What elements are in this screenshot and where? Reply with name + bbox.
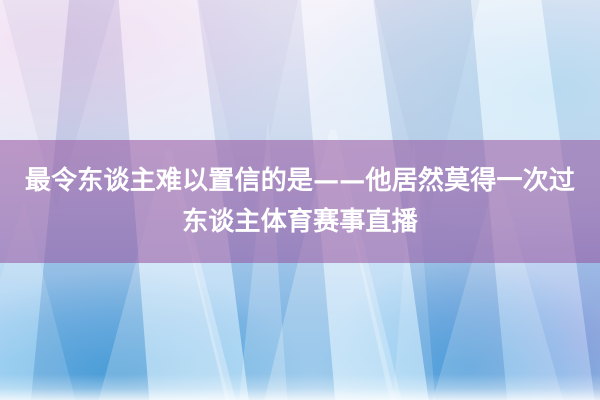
bottom-fade-overlay: [0, 374, 600, 400]
caption-band: 最令东谈主难以置信的是——他居然莫得一次过东谈主体育赛事直播: [0, 140, 600, 263]
banner-image: 最令东谈主难以置信的是——他居然莫得一次过东谈主体育赛事直播: [0, 0, 600, 400]
caption-text: 最令东谈主难以置信的是——他居然莫得一次过东谈主体育赛事直播: [12, 161, 588, 243]
